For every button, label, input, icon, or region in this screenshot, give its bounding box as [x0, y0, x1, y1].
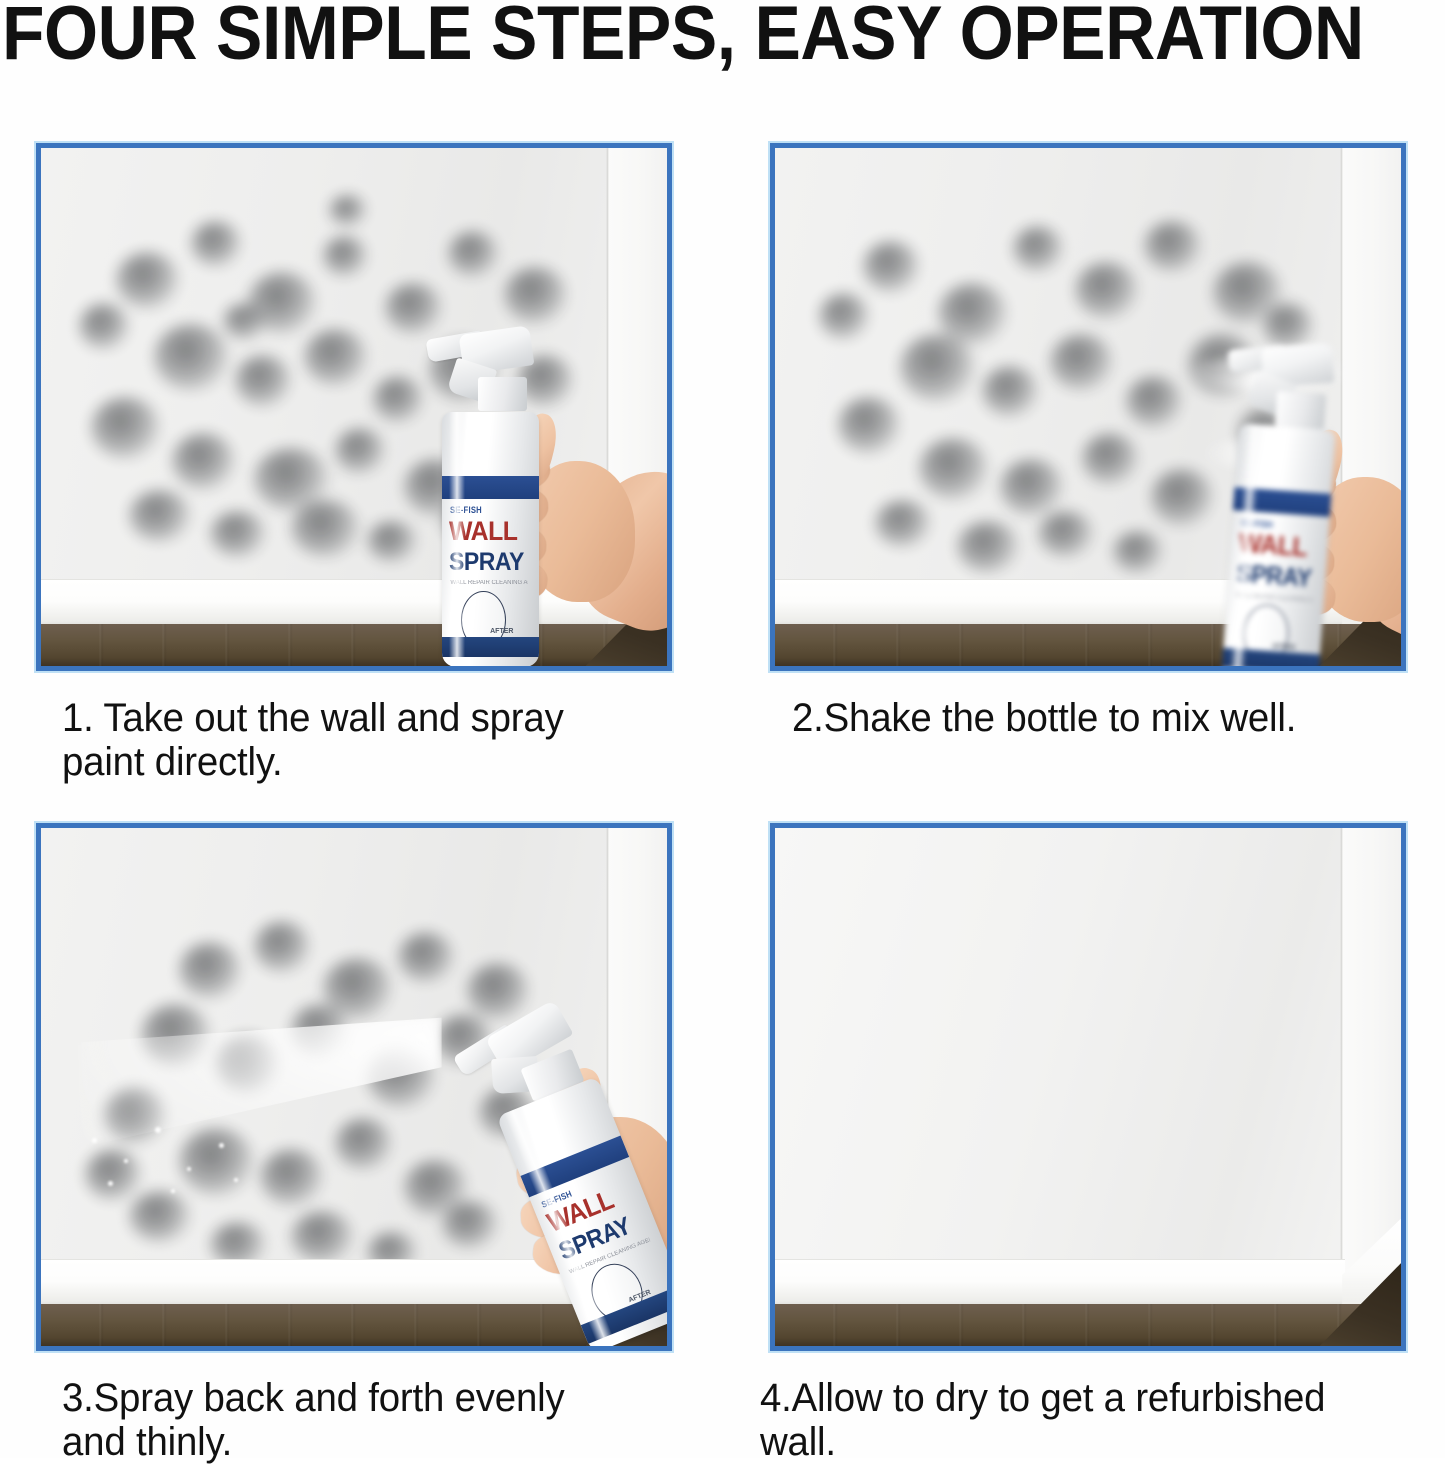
label-netwt-text: AFTER — [490, 628, 513, 635]
step-2-photo: SE-FISH WALL SPRAY WALL REPAIR CLEANING … — [770, 143, 1406, 671]
step-1-photo: SE-FISH WALL SPRAY WALL REPAIR CLEANING … — [36, 143, 672, 671]
room-scene-clean — [775, 828, 1401, 1346]
step-panel-2: SE-FISH WALL SPRAY WALL REPAIR CLEANING … — [770, 143, 1406, 671]
step-2-caption: 2.Shake the bottle to mix well. — [792, 696, 1416, 740]
baseboard — [775, 1259, 1345, 1307]
room-scene-shaking: SE-FISH WALL SPRAY WALL REPAIR CLEANING … — [775, 148, 1401, 666]
trigger-sprayer-head — [429, 328, 551, 415]
bottle-body: SE-FISH WALL SPRAY WALL REPAIR CLEANING … — [1221, 424, 1336, 666]
step-3-caption: 3.Spray back and forth evenly and thinly… — [62, 1376, 696, 1464]
bottle-collar — [1275, 391, 1326, 429]
bottle-highlight — [449, 412, 465, 666]
room-scene-spraying: SE-FISH WALL SPRAY WALL REPAIR CLEANING … — [41, 828, 667, 1346]
step-panel-4 — [770, 823, 1406, 1351]
step-3-photo: SE-FISH WALL SPRAY WALL REPAIR CLEANING … — [36, 823, 672, 1351]
page-title: FOUR SIMPLE STEPS, EASY OPERATION — [2, 0, 1322, 74]
spray-bottle: SE-FISH WALL SPRAY WALL REPAIR CLEANING … — [420, 366, 577, 656]
trigger-sprayer-head — [1226, 339, 1354, 434]
step-4-photo — [770, 823, 1406, 1351]
spray-droplets — [66, 1097, 329, 1232]
step-panel-1: SE-FISH WALL SPRAY WALL REPAIR CLEANING … — [36, 143, 672, 671]
step-4-caption: 4.Allow to dry to get a refurbished wall… — [760, 1376, 1422, 1464]
step-panel-3: SE-FISH WALL SPRAY WALL REPAIR CLEANING … — [36, 823, 672, 1351]
room-scene-moldy: SE-FISH WALL SPRAY WALL REPAIR CLEANING … — [41, 148, 667, 666]
bottle-collar — [478, 377, 527, 412]
bottle-body: SE-FISH WALL SPRAY WALL REPAIR CLEANING … — [442, 412, 539, 666]
wood-floor — [775, 1304, 1401, 1346]
step-1-caption: 1. Take out the wall and spray paint dir… — [62, 696, 686, 784]
spray-bottle-shaking: SE-FISH WALL SPRAY WALL REPAIR CLEANING … — [1200, 376, 1376, 666]
